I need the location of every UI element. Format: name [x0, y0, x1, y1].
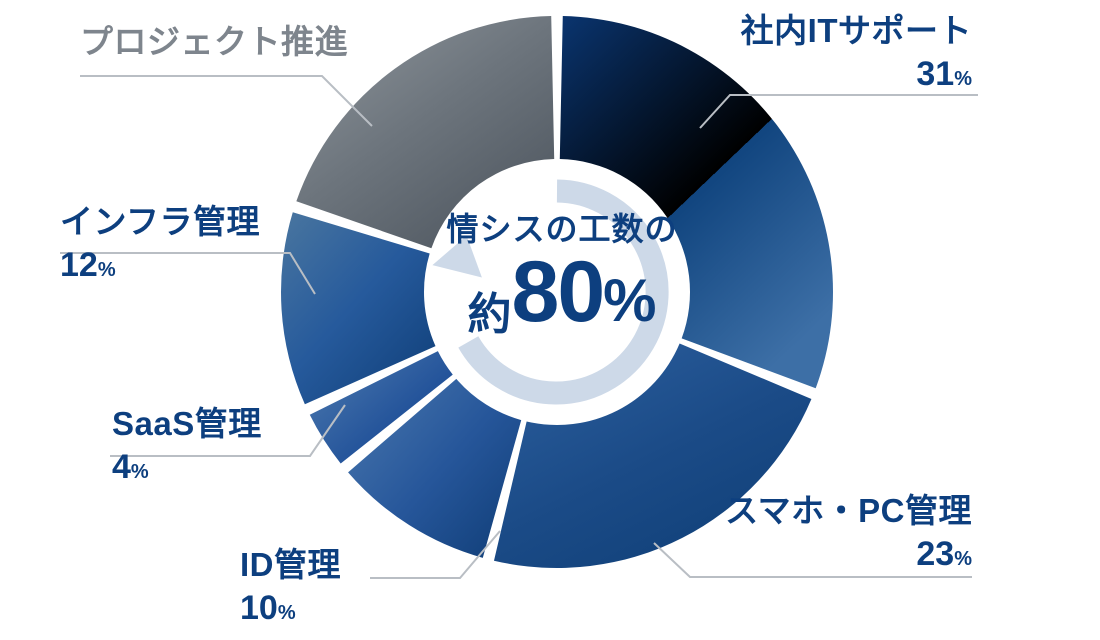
callout-id-mgmt-title: ID管理 — [240, 548, 341, 583]
callout-device-mgmt-value: 23% — [725, 537, 972, 573]
leader-line-project-promo — [80, 76, 372, 126]
callout-project-promo[interactable]: プロジェクト推進 — [80, 25, 348, 60]
callout-it-support[interactable]: 社内ITサポート 31% — [741, 14, 972, 92]
circular-arrow-icon — [432, 191, 657, 393]
callout-infra-mgmt[interactable]: インフラ管理 12% — [60, 205, 260, 283]
callout-id-mgmt-value: 10% — [240, 591, 341, 627]
donut-chart-infographic: 社内ITサポート 31% スマホ・PC管理 23% ID管理 10% SaaS管… — [0, 0, 1100, 640]
callout-it-support-value: 31% — [741, 57, 972, 93]
callout-saas-mgmt[interactable]: SaaS管理 4% — [112, 407, 262, 485]
callout-saas-mgmt-value: 4% — [112, 450, 262, 486]
callout-device-mgmt-title: スマホ・PC管理 — [725, 494, 972, 529]
callout-infra-mgmt-value: 12% — [60, 248, 260, 284]
callout-saas-mgmt-title: SaaS管理 — [112, 407, 262, 442]
callout-infra-mgmt-title: インフラ管理 — [60, 205, 260, 240]
callout-device-mgmt[interactable]: スマホ・PC管理 23% — [725, 494, 972, 572]
callout-id-mgmt[interactable]: ID管理 10% — [240, 548, 341, 626]
callout-it-support-title: 社内ITサポート — [741, 14, 972, 49]
callout-project-promo-title: プロジェクト推進 — [80, 25, 348, 60]
